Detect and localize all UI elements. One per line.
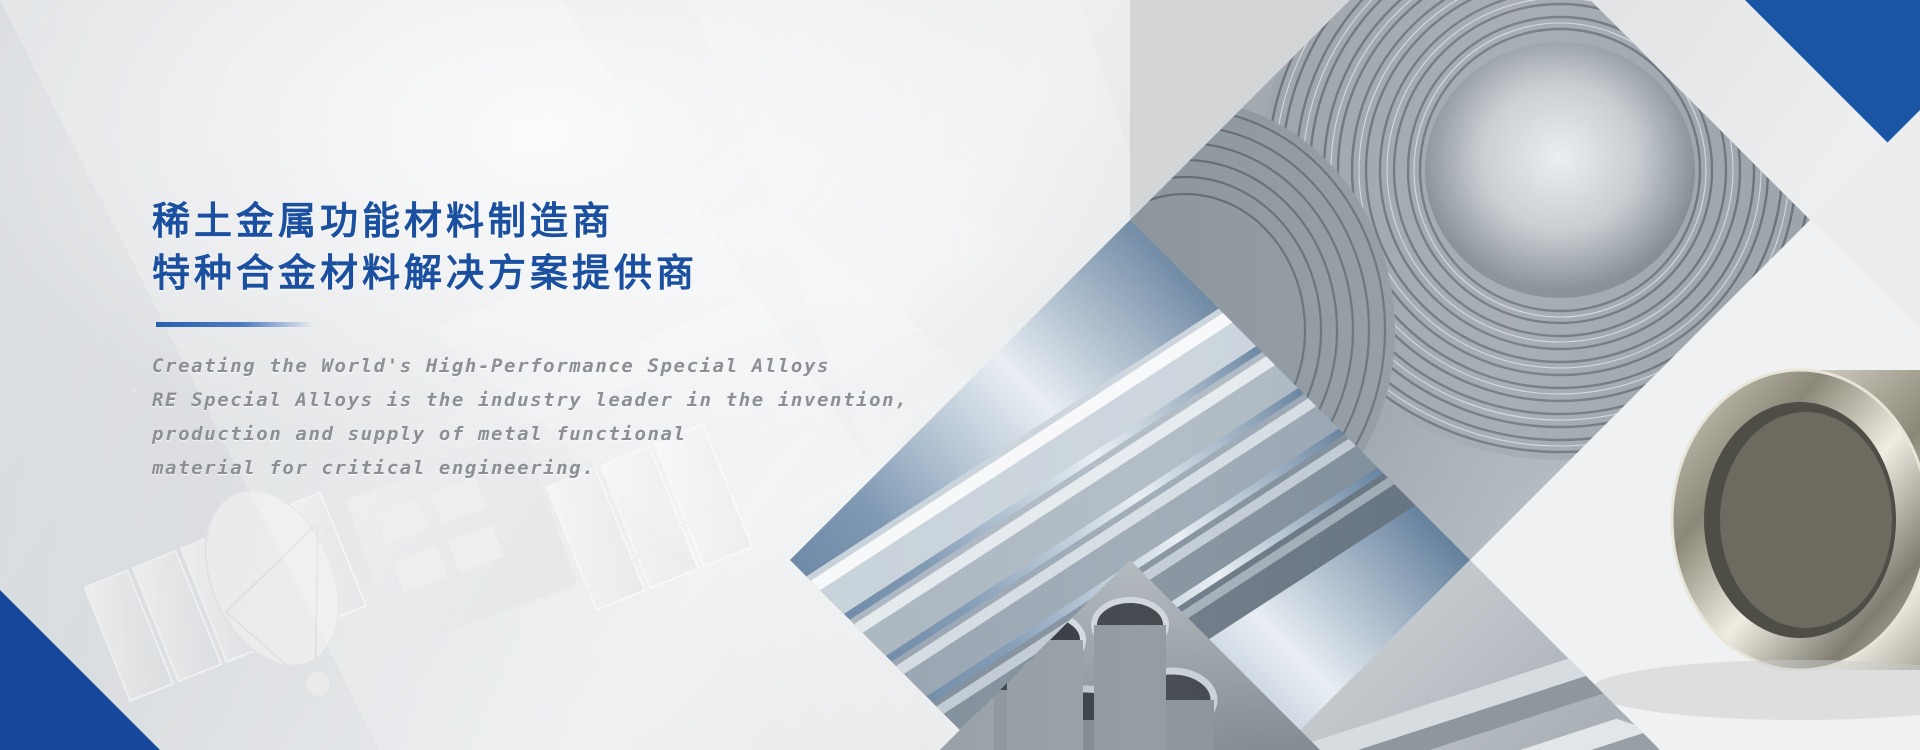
blue-accent-diamond <box>1130 0 1810 560</box>
headline-line-1: 稀土金属功能材料制造商 <box>152 196 932 248</box>
tube-bundle-photo <box>790 560 1490 750</box>
tagline-line-4: material for critical engineering. <box>152 451 932 485</box>
headline-line-2: 特种合金材料解决方案提供商 <box>152 248 932 300</box>
wire-coil-photo <box>975 0 1890 700</box>
tagline-paragraph: Creating the World's High-Performance Sp… <box>152 349 932 485</box>
tagline-line-1: Creating the World's High-Performance Sp… <box>152 349 932 383</box>
collage-wedge-left <box>1130 0 1470 220</box>
top-right-blue-triangle <box>1745 0 1920 175</box>
flat-strip-photo <box>1130 560 1830 750</box>
hero-banner: 稀土金属功能材料制造商 特种合金材料解决方案提供商 Creating the W… <box>0 0 1920 750</box>
hero-copy: 稀土金属功能材料制造商 特种合金材料解决方案提供商 Creating the W… <box>152 196 932 485</box>
collage-wedge-right <box>1810 110 1920 330</box>
bottom-left-blue-triangle <box>0 590 160 750</box>
headline-divider <box>156 322 314 327</box>
tagline-line-2: RE Special Alloys is the industry leader… <box>152 383 932 417</box>
foil-roll-photo <box>1470 220 1920 750</box>
tagline-line-3: production and supply of metal functiona… <box>152 417 932 451</box>
